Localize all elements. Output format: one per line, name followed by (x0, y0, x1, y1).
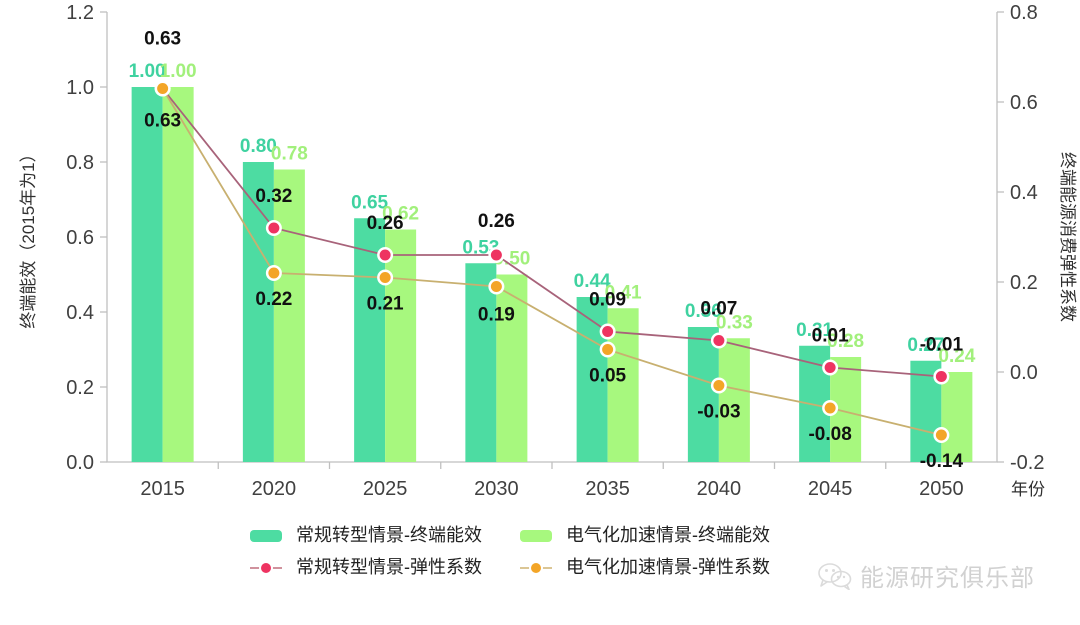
y-axis-tick-label: 1.2 (66, 2, 94, 24)
bar (274, 170, 305, 463)
line-marker (825, 403, 836, 414)
bar (465, 263, 496, 462)
y2-axis-tick-label: -0.2 (1010, 452, 1044, 474)
line-marker (602, 344, 613, 355)
x-axis-tick-label: 2025 (363, 478, 408, 500)
elasticity-bottom-label: 0.21 (367, 294, 404, 315)
line-marker (268, 223, 279, 234)
x-axis-tick-label: 2045 (808, 478, 853, 500)
x-axis-tick-label: 2015 (140, 478, 185, 500)
legend-label: 常规转型情景-终端能效 (296, 525, 482, 545)
bar (132, 87, 163, 462)
line-marker (602, 326, 613, 337)
elasticity-top-label: 0.09 (589, 290, 626, 311)
chart-container: 0.00.20.40.60.81.01.2-0.20.00.20.40.60.8… (0, 0, 1080, 625)
y2-axis-tick-label: 0.8 (1010, 2, 1038, 24)
elasticity-bottom-label: 0.19 (478, 305, 515, 326)
line-marker (825, 362, 836, 373)
bar (243, 162, 274, 462)
legend-label: 电气化加速情景-弹性系数 (566, 557, 770, 577)
legend-swatch (520, 530, 552, 542)
elasticity-bottom-label: 0.05 (589, 366, 626, 387)
elasticity-top-label: 0.01 (812, 326, 849, 347)
bar (496, 275, 527, 463)
line-marker (713, 335, 724, 346)
elasticity-bottom-label: 0.63 (144, 111, 181, 132)
legend-item[interactable]: 常规转型情景-弹性系数 (250, 557, 482, 577)
line-marker (713, 380, 724, 391)
y-axis-tick-label: 0.8 (66, 152, 94, 174)
y-axis-tick-label: 0.6 (66, 227, 94, 249)
elasticity-top-label: -0.01 (920, 335, 964, 356)
y-axis-title: 终端能效（2015年为1） (19, 145, 38, 328)
y-axis-tick-label: 1.0 (66, 77, 94, 99)
x-axis-tick-label: 2035 (585, 478, 630, 500)
elasticity-bottom-label: -0.08 (808, 424, 851, 445)
line-marker (936, 371, 947, 382)
y2-axis-tick-label: 0.2 (1010, 272, 1038, 294)
bar (688, 327, 719, 462)
line-marker (380, 250, 391, 261)
x-axis-title: 年份 (1011, 480, 1045, 499)
y2-axis-tick-label: 0.4 (1010, 182, 1038, 204)
legend-item[interactable]: 常规转型情景-终端能效 (250, 525, 482, 545)
legend-marker (261, 563, 271, 573)
y2-axis-title: 终端能源消费弹性系数 (1058, 152, 1077, 322)
y2-axis-tick-label: 0.0 (1010, 362, 1038, 384)
axis-frame (107, 12, 997, 462)
y-axis-tick-label: 0.0 (66, 452, 94, 474)
line-marker (491, 250, 502, 261)
elasticity-top-label: 0.26 (367, 213, 404, 234)
bar (719, 338, 750, 462)
elasticity-top-label: 0.07 (700, 299, 737, 320)
y-axis-tick-label: 0.2 (66, 377, 94, 399)
elasticity-top-label: 0.32 (255, 186, 292, 207)
legend-swatch (250, 530, 282, 542)
elasticity-bottom-label: 0.22 (255, 289, 292, 310)
bar-value-label: 0.78 (271, 144, 308, 165)
y-axis-tick-label: 0.4 (66, 302, 94, 324)
line-marker (491, 281, 502, 292)
bar (163, 87, 194, 462)
y2-axis-tick-label: 0.6 (1010, 92, 1038, 114)
line-marker (268, 268, 279, 279)
bar-value-label: 1.00 (160, 61, 197, 82)
legend-item[interactable]: 电气化加速情景-弹性系数 (520, 557, 770, 577)
x-axis-tick-label: 2020 (252, 478, 297, 500)
elasticity-bottom-label: -0.03 (697, 402, 740, 423)
legend-label: 电气化加速情景-终端能效 (566, 525, 770, 545)
legend-item[interactable]: 电气化加速情景-终端能效 (520, 525, 770, 545)
legend-marker (531, 563, 541, 573)
legend-label: 常规转型情景-弹性系数 (296, 557, 482, 577)
bar (941, 372, 972, 462)
elasticity-bottom-label: -0.14 (920, 451, 964, 472)
elasticity-top-label: 0.63 (144, 29, 181, 50)
chart-generated-layer: 0.00.20.40.60.81.01.2-0.20.00.20.40.60.8… (19, 2, 1077, 577)
bar (385, 230, 416, 463)
line-marker (157, 83, 168, 94)
x-axis-tick-label: 2050 (919, 478, 964, 500)
x-axis-tick-label: 2030 (474, 478, 519, 500)
elasticity-top-label: 0.26 (478, 211, 515, 232)
line-marker (936, 430, 947, 441)
chart-svg: 0.00.20.40.60.81.01.2-0.20.00.20.40.60.8… (0, 0, 1080, 625)
x-axis-tick-label: 2040 (697, 478, 742, 500)
line-marker (380, 272, 391, 283)
